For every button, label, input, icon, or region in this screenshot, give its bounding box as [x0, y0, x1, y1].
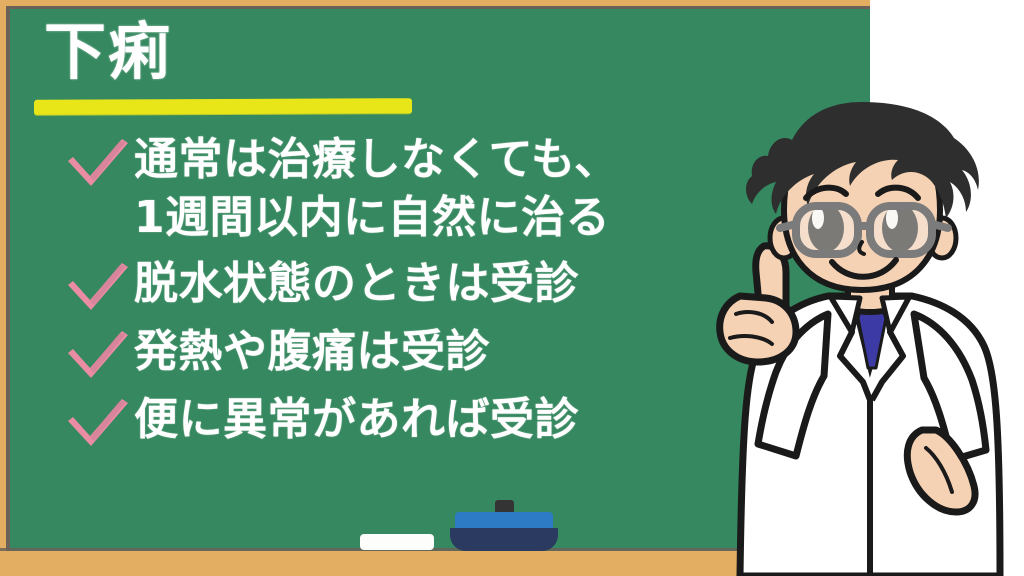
list-item-label: 便に異常があれば受診 [134, 391, 579, 449]
list-item: 便に異常があれば受診 [62, 391, 762, 451]
eraser-body [450, 528, 558, 551]
doctor-figure [720, 102, 1000, 576]
check-icon [62, 133, 134, 191]
list-item-label: 脱水状態のときは受診 [134, 255, 579, 313]
check-icon [62, 393, 134, 451]
check-icon [62, 257, 134, 315]
list-item: 発熱や腹痛は受診 [62, 323, 762, 383]
list-item: 脱水状態のときは受診 [62, 255, 762, 315]
chalk-stick-icon [360, 534, 434, 550]
list-item-label: 通常は治療しなくても、 1週間以内に自然に治る [134, 131, 619, 247]
doctor-illustration [700, 100, 1024, 576]
check-icon [62, 325, 134, 383]
list-item-label: 発熱や腹痛は受診 [134, 323, 490, 381]
title-underline [34, 98, 412, 115]
slide-canvas: 下痢 通常は治療しなくても、 1週間以内に自然に治る 脱水状態のときは受診 [0, 0, 1024, 576]
slide-title: 下痢 [44, 16, 172, 87]
blackboard-eraser-icon [448, 499, 560, 551]
pointing-hand [720, 246, 796, 362]
list-item: 通常は治療しなくても、 1週間以内に自然に治る [62, 131, 762, 247]
bullet-list: 通常は治療しなくても、 1週間以内に自然に治る 脱水状態のときは受診 発熱や腹痛… [62, 131, 762, 459]
